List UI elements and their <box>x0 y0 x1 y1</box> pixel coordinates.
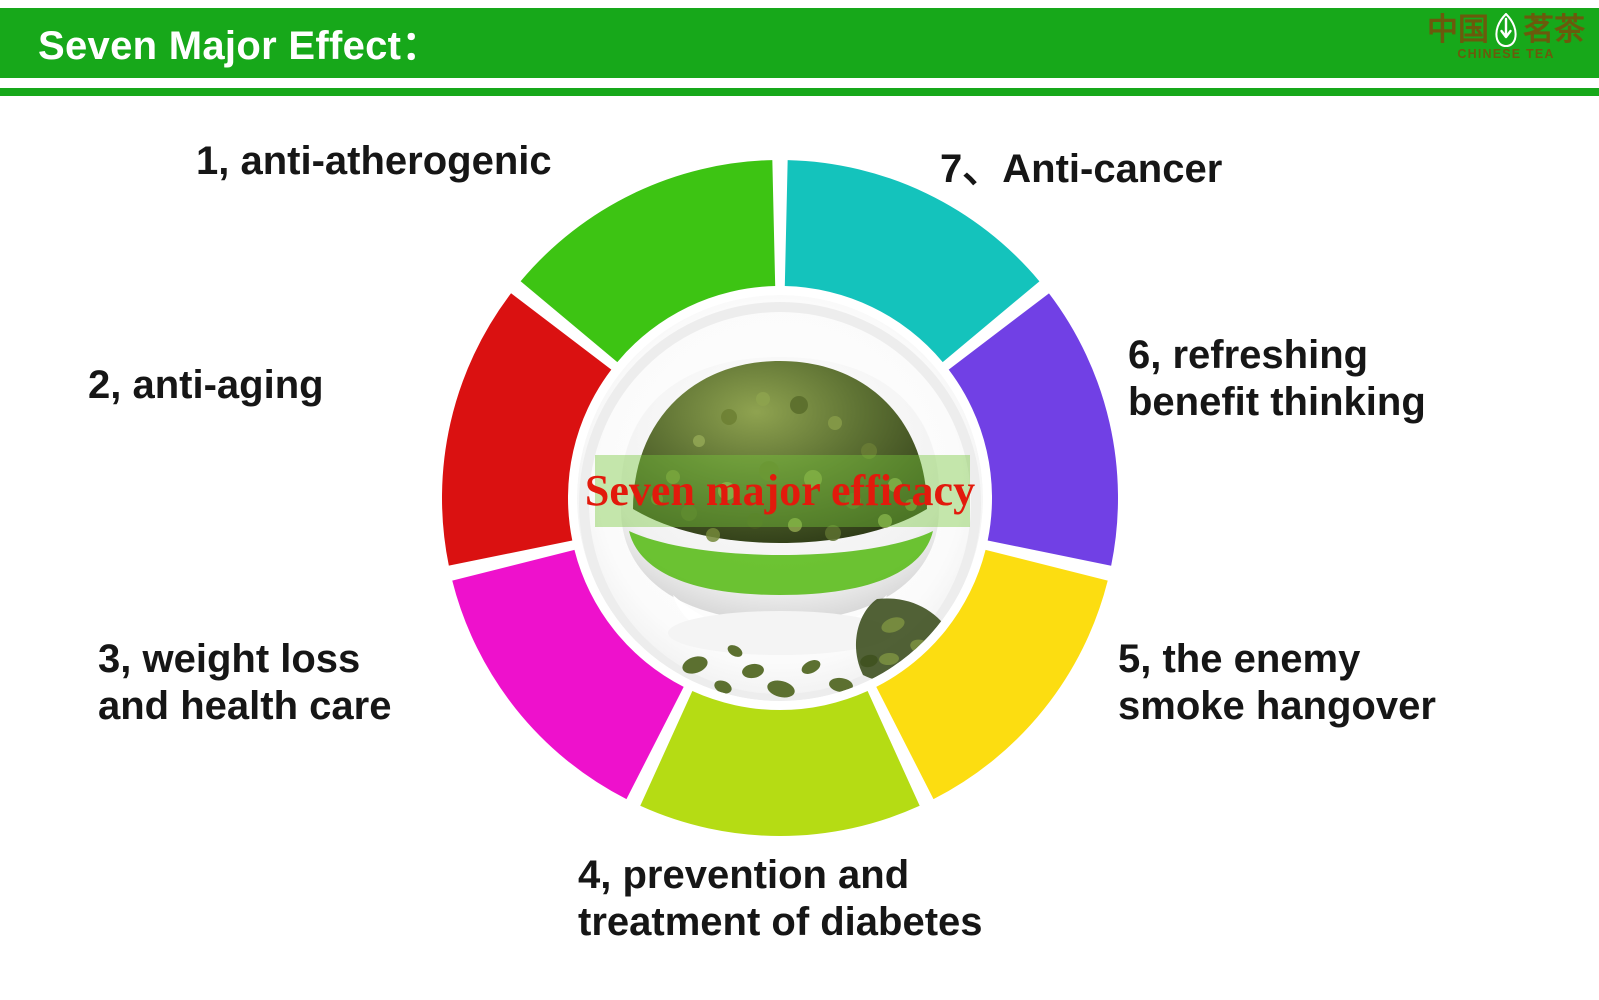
page-title: Seven Major Effect： <box>38 13 442 71</box>
segment-label-diabetes: 4, prevention and treatment of diabetes <box>578 852 983 946</box>
segment-label-smoke-hangover: 5, the enemy smoke hangover <box>1118 636 1436 730</box>
segment-label-line: benefit thinking <box>1128 379 1426 426</box>
segment-label-line: 3, weight loss <box>98 636 391 683</box>
brand-chinese-right: 茗茶 <box>1523 15 1585 46</box>
header-bar: Seven Major Effect： <box>0 8 1599 78</box>
segment-label-refreshing: 6, refreshing benefit thinking <box>1128 332 1426 426</box>
segment-label-anti-atherogenic: 1, anti-atherogenic <box>196 138 552 185</box>
segment-label-weight-loss: 3, weight loss and health care <box>98 636 391 730</box>
segment-label-line: 7、Anti-cancer <box>940 146 1222 193</box>
header-underline-rule <box>0 88 1599 96</box>
segment-label-line: treatment of diabetes <box>578 899 983 946</box>
segment-label-line: and health care <box>98 683 391 730</box>
segment-label-anti-cancer: 7、Anti-cancer <box>940 146 1222 193</box>
segment-label-line: 5, the enemy <box>1118 636 1436 683</box>
center-caption: Seven major efficacy <box>440 462 1120 520</box>
brand-chinese-left: 中国 <box>1427 15 1489 46</box>
segment-label-line: 2, anti-aging <box>88 362 324 409</box>
brand-chinese-row: 中国 茗茶 <box>1427 13 1585 47</box>
segment-label-line: 1, anti-atherogenic <box>196 138 552 185</box>
brand-logo: 中国 茗茶 CHINESE TEA <box>1427 2 1585 72</box>
segment-label-line: 6, refreshing <box>1128 332 1426 379</box>
donut-segment-refreshing[interactable] <box>640 691 919 836</box>
tea-leaf-icon <box>1493 13 1519 47</box>
segment-label-line: smoke hangover <box>1118 683 1436 730</box>
segment-label-anti-aging: 2, anti-aging <box>88 362 324 409</box>
segment-label-line: 4, prevention and <box>578 852 983 899</box>
brand-english-tagline: CHINESE TEA <box>1457 48 1554 61</box>
